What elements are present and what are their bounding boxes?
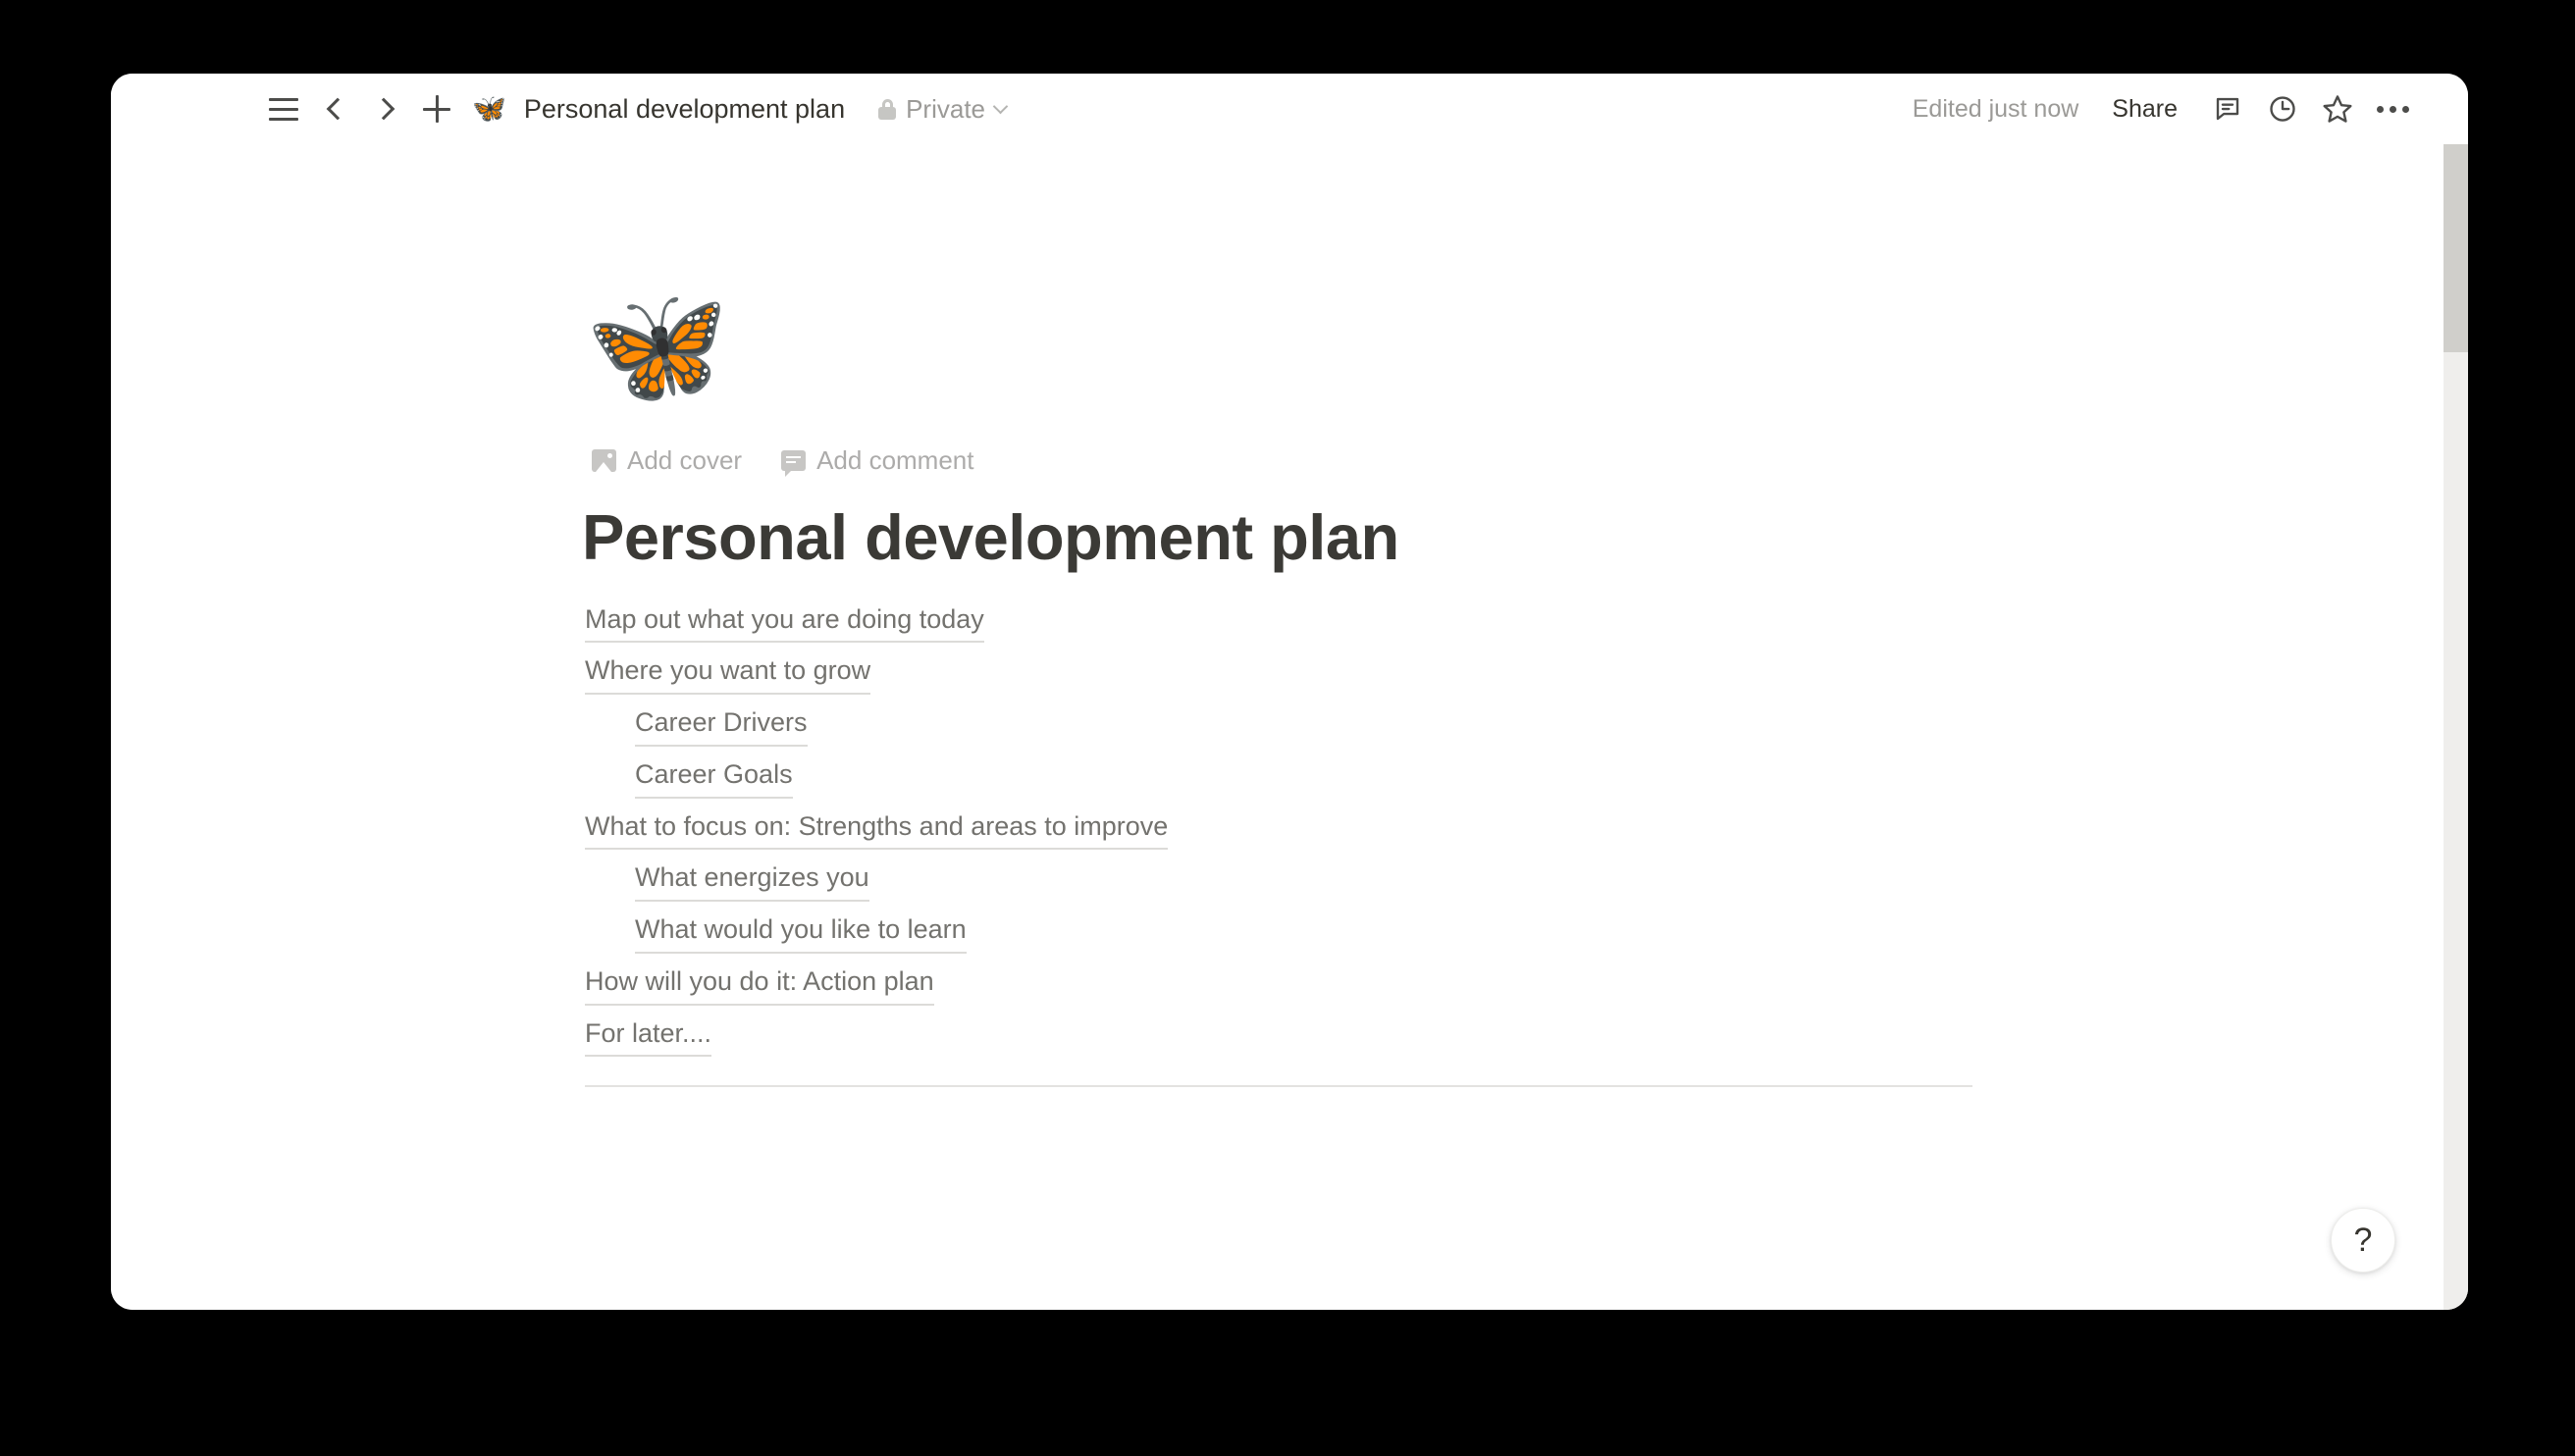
toc-row: Career Drivers [585, 706, 2468, 747]
toc-row: Where you want to grow [585, 654, 2468, 695]
add-comment-label: Add comment [816, 445, 973, 476]
chevron-right-glyph [372, 98, 394, 121]
toc-link-for-later[interactable]: For later.... [585, 1017, 711, 1058]
breadcrumb-page-emoji: 🦋 [472, 95, 506, 123]
toc-link-what-to-focus-on[interactable]: What to focus on: Strengths and areas to… [585, 810, 1168, 851]
app-window: 🦋 Personal development plan Private Edit… [111, 74, 2468, 1310]
breadcrumb[interactable]: Personal development plan [516, 88, 853, 130]
scrollbar-thumb[interactable] [2444, 144, 2468, 352]
help-button[interactable]: ? [2331, 1208, 2395, 1273]
privacy-selector[interactable]: Private [868, 88, 1016, 130]
add-comment-button[interactable]: Add comment [775, 442, 979, 480]
more-dots-glyph [2377, 106, 2409, 113]
toc-row: Map out what you are doing today [585, 603, 2468, 644]
chevron-down-icon [993, 99, 1009, 115]
toc-row: Career Goals [585, 758, 2468, 799]
toc-row: How will you do it: Action plan [585, 965, 2468, 1006]
image-icon [592, 449, 616, 472]
toc-row: What to focus on: Strengths and areas to… [585, 810, 2468, 851]
toc-link-where-you-want-to-grow[interactable]: Where you want to grow [585, 654, 870, 695]
privacy-label: Private [906, 94, 985, 125]
table-of-contents: Map out what you are doing today Where y… [585, 603, 2468, 1058]
chevron-left-glyph [326, 98, 348, 121]
toc-row: What energizes you [585, 861, 2468, 902]
device-frame: 🦋 Personal development plan Private Edit… [0, 0, 2575, 1456]
chevron-right-icon[interactable] [360, 83, 411, 134]
content-divider [585, 1085, 1972, 1087]
top-bar: 🦋 Personal development plan Private Edit… [111, 74, 2468, 144]
toc-link-map-out-what-you-are-doing-today[interactable]: Map out what you are doing today [585, 603, 984, 644]
chevron-left-icon[interactable] [309, 83, 360, 134]
star-icon[interactable] [2313, 84, 2362, 133]
edited-status[interactable]: Edited just now [1903, 89, 2089, 130]
comment-bubble-icon [781, 450, 806, 471]
more-options-icon[interactable] [2368, 84, 2417, 133]
toc-link-career-drivers[interactable]: Career Drivers [635, 706, 808, 747]
add-cover-label: Add cover [627, 445, 742, 476]
share-button[interactable]: Share [2100, 87, 2189, 131]
toc-link-what-would-you-like-to-learn[interactable]: What would you like to learn [635, 913, 967, 954]
plus-glyph [423, 95, 450, 123]
toc-row: What would you like to learn [585, 913, 2468, 954]
document-actions: Add cover Add comment [586, 442, 2468, 480]
topbar-left-group: 🦋 Personal development plan Private [111, 83, 1016, 134]
toc-link-career-goals[interactable]: Career Goals [635, 758, 793, 799]
document-content: 🦋 Add cover Add comment Personal develop… [111, 144, 2468, 1087]
comment-icon[interactable] [2203, 84, 2252, 133]
add-cover-button[interactable]: Add cover [586, 442, 748, 480]
clock-history-icon[interactable] [2258, 84, 2307, 133]
toc-row: For later.... [585, 1017, 2468, 1058]
document-scroll-area[interactable]: 🦋 Add cover Add comment Personal develop… [111, 144, 2468, 1310]
vertical-scrollbar[interactable] [2444, 144, 2468, 1310]
lock-icon [878, 99, 896, 120]
page-title[interactable]: Personal development plan [582, 502, 2468, 573]
hamburger-glyph [269, 98, 298, 121]
toc-link-how-will-you-do-it[interactable]: How will you do it: Action plan [585, 965, 934, 1006]
hamburger-menu-icon[interactable] [258, 83, 309, 134]
plus-icon[interactable] [411, 83, 462, 134]
page-icon[interactable]: 🦋 [585, 273, 742, 420]
toc-link-what-energizes-you[interactable]: What energizes you [635, 861, 869, 902]
topbar-right-group: Edited just now Share [1903, 84, 2468, 133]
